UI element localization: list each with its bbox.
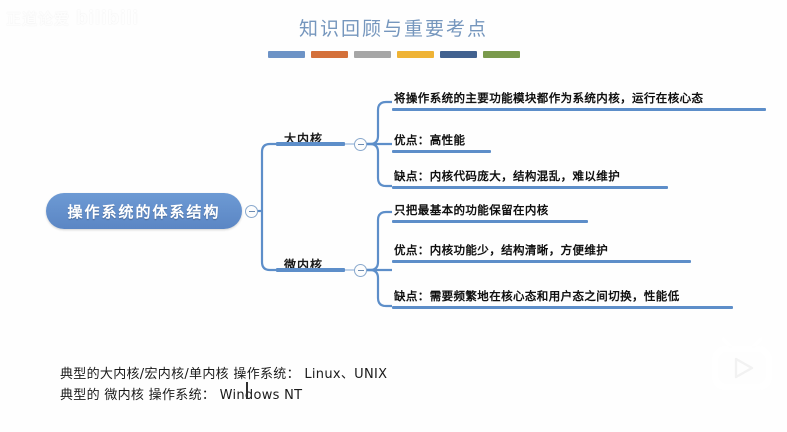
text-cursor — [246, 382, 248, 399]
mindmap-root-node[interactable]: 操作系统的体系结构 — [46, 193, 242, 229]
branch-collapse-minus-icon-microkernel[interactable] — [354, 264, 367, 277]
leaf-underline-macrokernel-2 — [392, 150, 491, 153]
leaf-underline-microkernel-2 — [392, 260, 691, 263]
leaf-underline-microkernel-1 — [392, 220, 588, 223]
leaf-node-macrokernel-1[interactable]: 将操作系统的主要功能模块都作为系统内核，运行在核心态 — [394, 90, 703, 106]
branch-underline-microkernel — [276, 268, 345, 272]
branch-underline-macrokernel — [276, 142, 345, 146]
leaf-node-microkernel-1[interactable]: 只把最基本的功能保留在内核 — [394, 202, 549, 218]
leaf-node-microkernel-2[interactable]: 优点：内核功能少，结构清晰，方便维护 — [394, 242, 608, 258]
bilibili-play-logo-icon — [707, 336, 777, 394]
footer-line-macrokernel-examples: 典型的大内核/宏内核/单内核 操作系统： Linux、UNIX — [60, 363, 387, 382]
leaf-node-macrokernel-2[interactable]: 优点：高性能 — [394, 132, 465, 148]
mindmap-root-label: 操作系统的体系结构 — [67, 201, 220, 222]
slide-canvas: 正道论爱bilibili 知识回顾与重要考点 操作系统的体系结构 大内核 微 — [0, 0, 787, 432]
leaf-node-microkernel-3[interactable]: 缺点：需要频繁地在核心态和用户态之间切换，性能低 — [394, 288, 680, 304]
footer-line-microkernel-examples: 典型的 微内核 操作系统： Windows NT — [60, 384, 302, 403]
leaf-underline-macrokernel-3 — [392, 186, 668, 189]
branch-collapse-minus-icon-macrokernel[interactable] — [354, 138, 367, 151]
leaf-node-macrokernel-3[interactable]: 缺点：内核代码庞大，结构混乱，难以维护 — [394, 168, 620, 184]
leaf-underline-microkernel-3 — [392, 306, 733, 309]
root-collapse-minus-icon[interactable] — [245, 205, 258, 218]
leaf-underline-macrokernel-1 — [392, 108, 766, 111]
